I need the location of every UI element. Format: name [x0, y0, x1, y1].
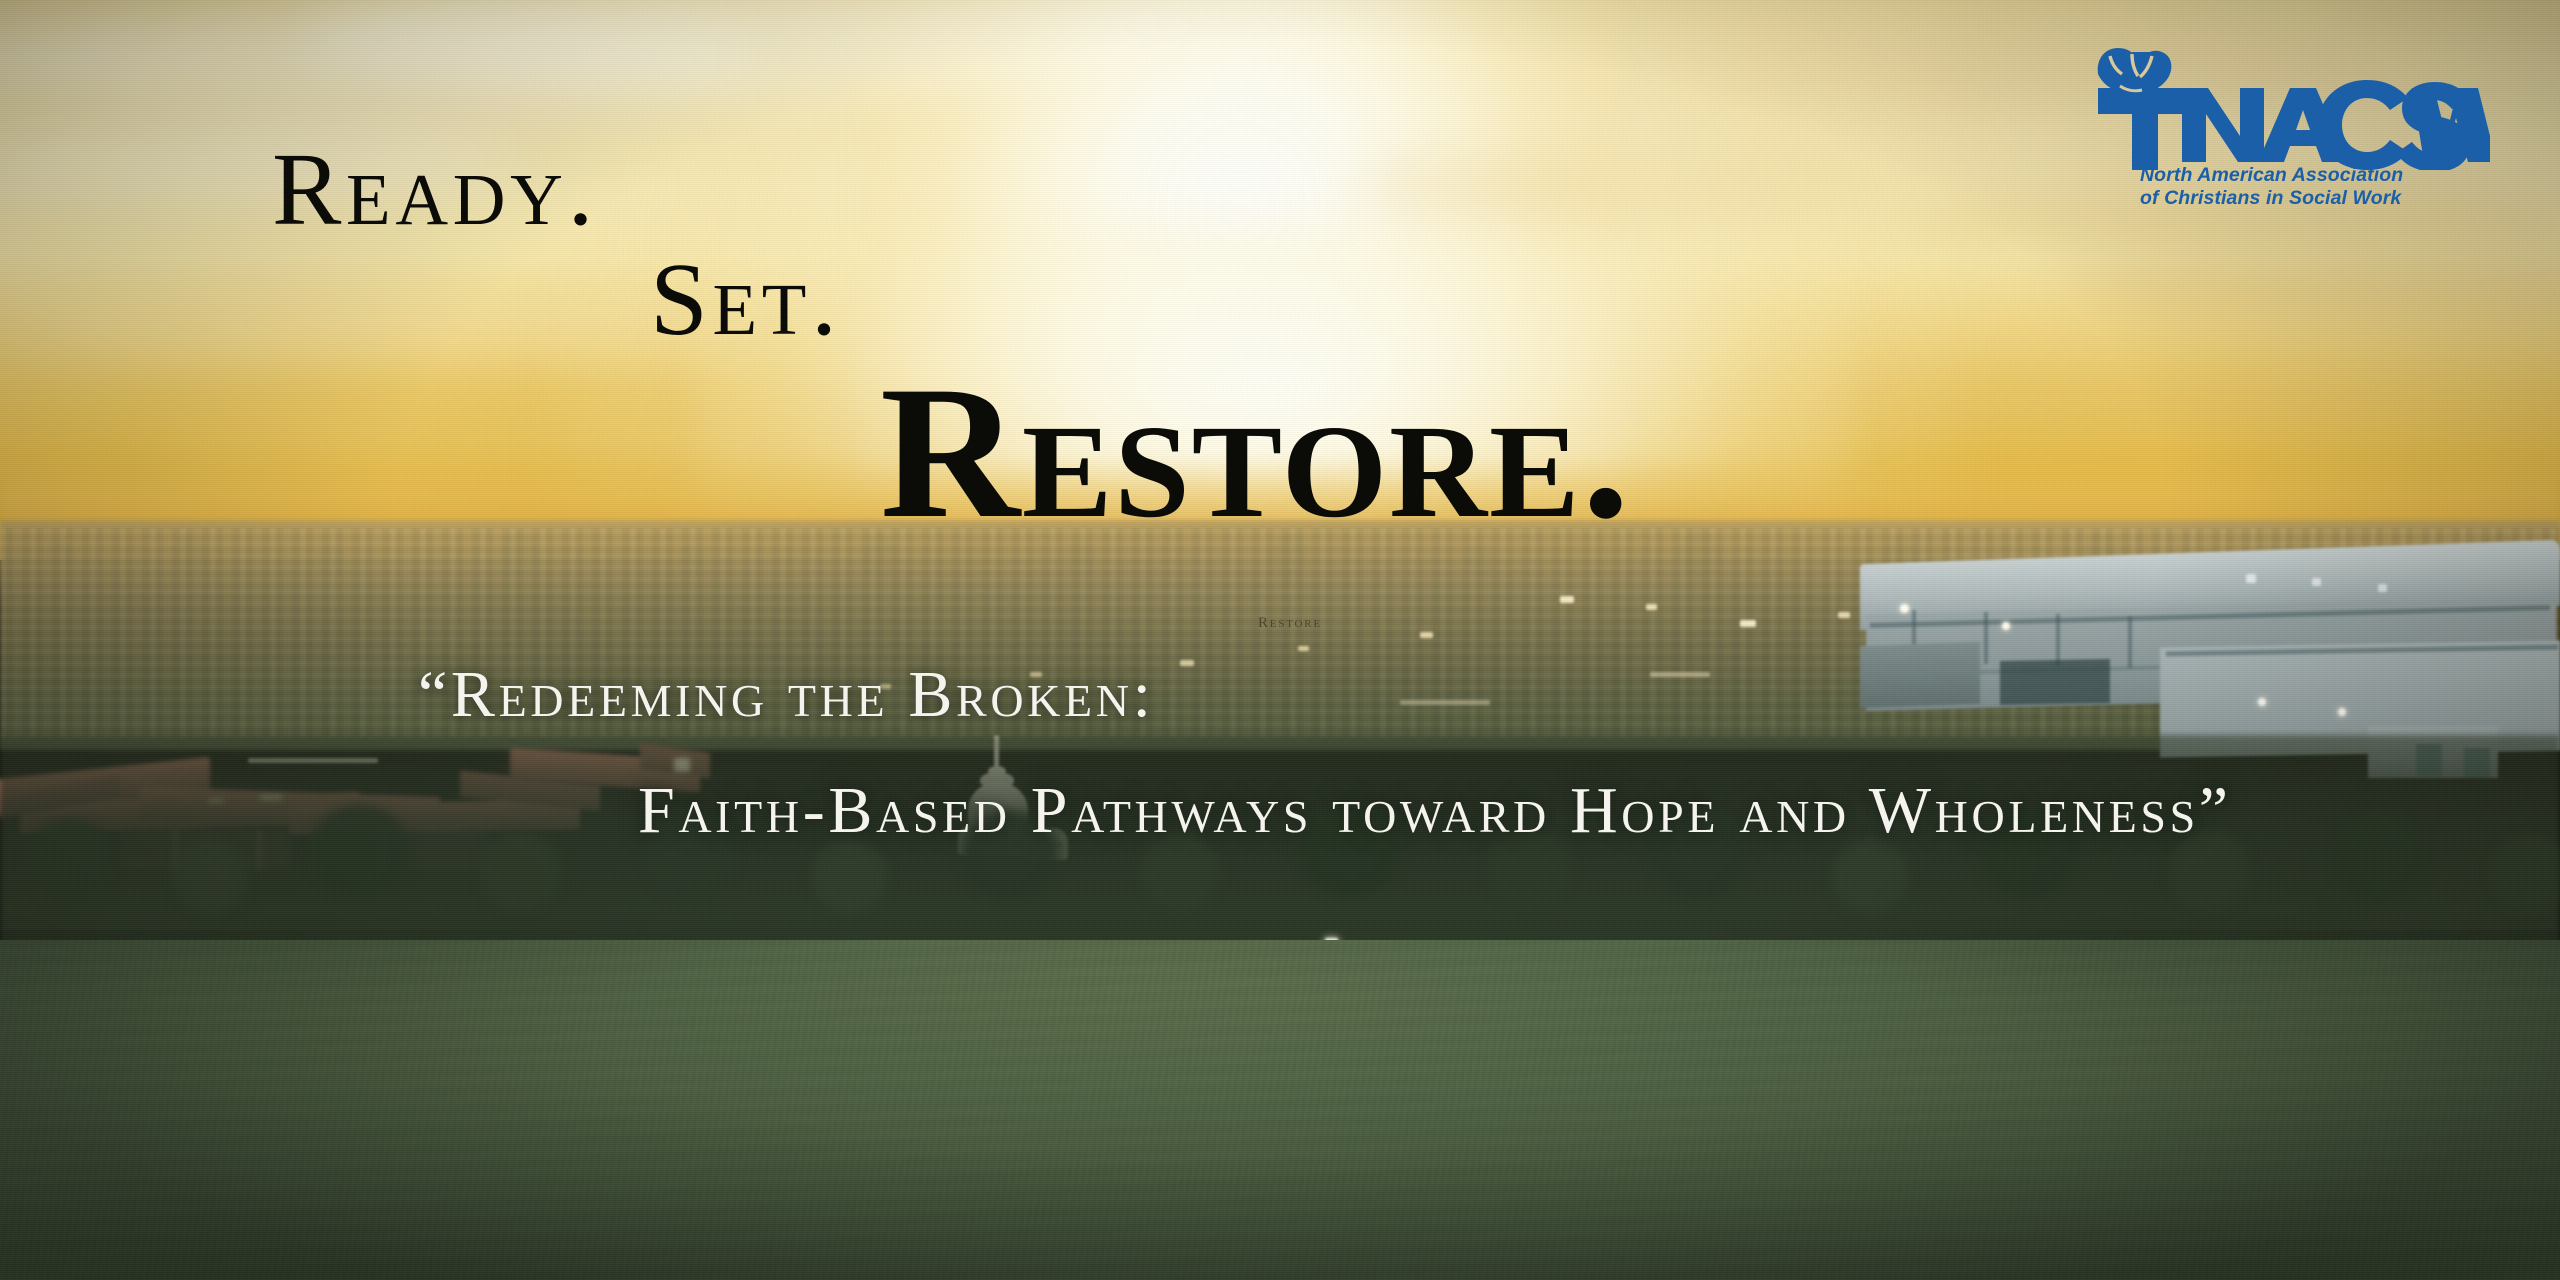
subtitle-line-2: Faith-Based Pathways toward Hope and Who… [638, 778, 2232, 844]
grass-vignette [0, 930, 2560, 1280]
window-glint [1560, 596, 1574, 603]
road-highlight [1650, 672, 1710, 677]
window-glint [1180, 660, 1194, 666]
restore-watermark: Restore [1258, 615, 1322, 632]
window-glint [1740, 620, 1756, 627]
goal-post [248, 758, 378, 763]
nacsw-tagline: North American Association of Christians… [2140, 164, 2490, 210]
road-highlight [1400, 700, 1490, 705]
window-glint [1646, 604, 1657, 610]
nacsw-logo[interactable]: North American Association of Christians… [2090, 44, 2490, 216]
cloud-streak [0, 300, 760, 352]
promo-banner: Ready. Set. Restore. Restore “Redeeming … [0, 0, 2560, 1280]
nacsw-wordmark [2182, 80, 2490, 170]
headline-ready: Ready. [272, 138, 598, 242]
cloud-streak [1350, 150, 1970, 220]
headline-set: Set. [650, 248, 842, 352]
window-glint [1420, 632, 1433, 638]
subtitle-line-1: “Redeeming the Broken: [418, 662, 1155, 728]
headline-restore: Restore. [880, 358, 1632, 548]
nacsw-logo-mark [2090, 44, 2490, 170]
window-glint [1298, 646, 1309, 651]
window-glint [1838, 612, 1850, 618]
